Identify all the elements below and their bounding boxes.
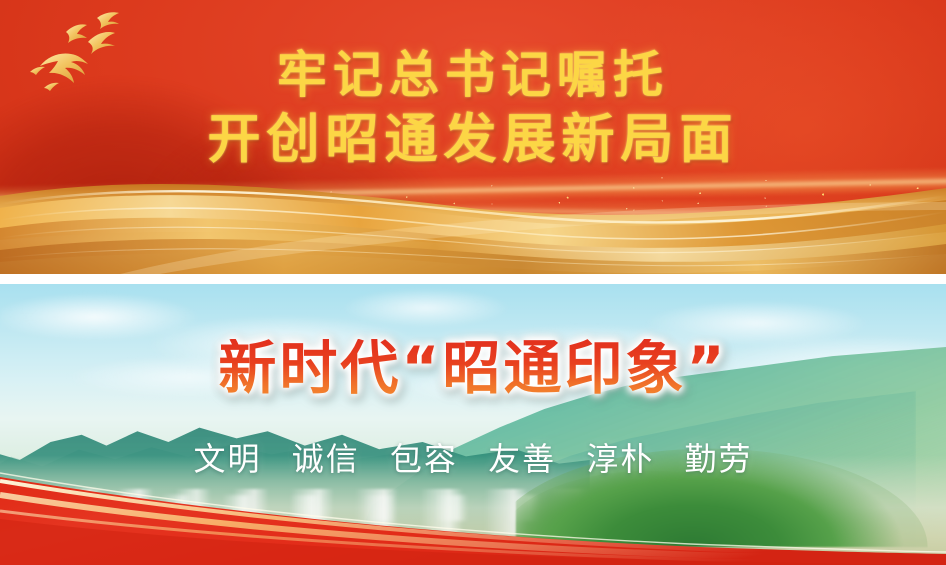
red-banner-title-line-2: 开创昭通发展新局面 [0,109,946,169]
virtue-item: 淳朴 [586,440,654,478]
virtue-item: 友善 [488,440,556,478]
zhaotong-impression-banner: 新时代“昭通印象” 文明 诚信 包容 友善 淳朴 勤劳 [0,284,946,565]
banner-divider [0,274,946,284]
virtue-item: 包容 [390,440,458,478]
scene-banner-title: 新时代“昭通印象” [0,339,946,397]
virtue-item: 诚信 [292,440,360,478]
poster-stage: 牢记总书记嘱托 开创昭通发展新局面 [0,0,946,565]
red-banner-title-block: 牢记总书记嘱托 开创昭通发展新局面 [0,0,946,169]
red-banner-title-line-1: 牢记总书记嘱托 [0,46,946,103]
virtue-item: 勤劳 [684,440,752,478]
virtue-item: 文明 [194,440,262,478]
golden-wave-decoration [0,162,946,274]
scene-banner-virtues: 文明 诚信 包容 友善 淳朴 勤劳 [0,434,946,480]
red-propaganda-banner: 牢记总书记嘱托 开创昭通发展新局面 [0,0,946,274]
